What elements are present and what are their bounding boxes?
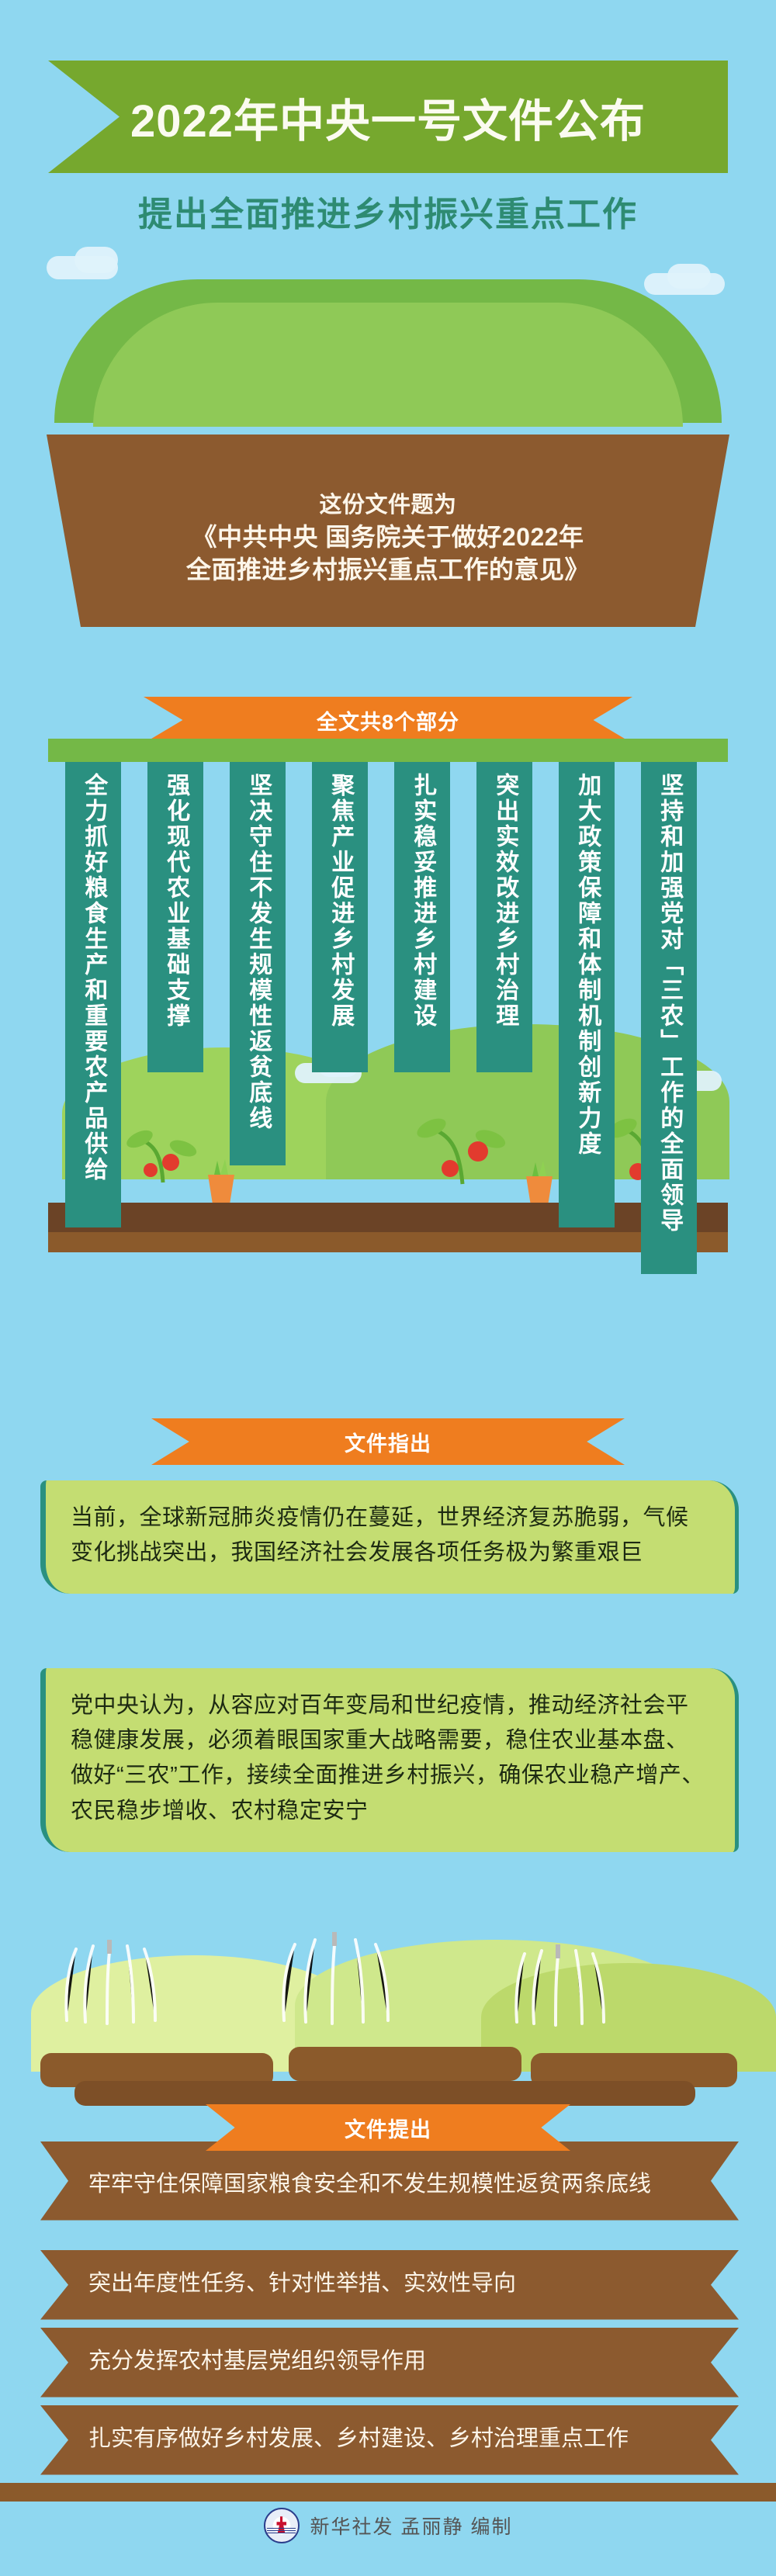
section-column-8[interactable]: 坚持和加强党对「三农」工作的全面领导 [641,762,697,1274]
points-out-paragraph-2: 党中央认为，从容应对百年变局和世纪疫情，推动经济社会平稳健康发展，必须着眼国家重… [40,1668,739,1852]
sprinkler-icon [512,1944,667,2045]
sprinkler-icon [279,1932,466,2041]
proposal-item-3[interactable]: 充分发挥农村基层党组织领导作用 [40,2328,739,2398]
columns-top-strip [48,739,728,762]
xinhua-logo-icon [264,2508,300,2543]
document-intro: 这份文件题为 [319,490,456,521]
proposal-item-2[interactable]: 突出年度性任务、针对性举措、实效性导向 [40,2250,739,2320]
top-field-illustration [0,248,776,458]
columns-soil-band-lower [48,1232,728,1252]
section-label-4: 聚焦产业促进乡村发展 [327,773,352,1029]
section-label-8: 坚持和加强党对「三农」工作的全面领导 [656,773,681,1234]
section-label-1: 全力抓好粮食生产和重要农产品供给 [81,773,106,1182]
section-label-3: 坚决守住不发生规模性返贫底线 [245,773,270,1131]
page-title: 2022年中央一号文件公布 [130,85,646,150]
sprinkler-icon [62,1940,233,2041]
section-column-7[interactable]: 加大政策保障和体制机制创新力度 [559,762,615,1227]
section-label-2: 强化现代农业基础支撑 [163,773,188,1029]
section-column-3[interactable]: 坚决守住不发生规模性返贫底线 [230,762,286,1165]
proposal-item-1[interactable]: 牢牢守住保障国家粮食安全和不发生规模性返贫两条底线 [40,2141,739,2221]
document-title-line2: 全面推进乡村振兴重点工作的意见》 [186,553,590,587]
points-out-banner: 文件指出 [151,1418,625,1465]
section-column-6[interactable]: 突出实效改进乡村治理 [476,762,532,1072]
proposals-banner: 文件提出 [206,2104,570,2151]
document-title-banner: 这份文件题为 《中共中央 国务院关于做好2022年 全面推进乡村振兴重点工作的意… [47,435,729,627]
section-column-5[interactable]: 扎实稳妥推进乡村建设 [394,762,450,1072]
sections-count-banner: 全文共8个部分 [144,697,632,743]
footer-soil-band [0,2483,776,2502]
infographic-page: 2022年中央一号文件公布 提出全面推进乡村振兴重点工作 [0,0,776,2576]
document-title-line1: 《中共中央 国务院关于做好2022年 [192,521,584,554]
tomato-plant-icon [404,1102,520,1187]
footer: 新华社发 孟丽静 编制 [0,2508,776,2543]
page-subtitle: 提出全面推进乡村振兴重点工作 [0,186,776,236]
footer-credit: 新华社发 孟丽静 编制 [310,2512,513,2540]
section-label-6: 突出实效改进乡村治理 [492,773,517,1029]
proposal-item-4[interactable]: 扎实有序做好乡村发展、乡村建设、乡村治理重点工作 [40,2405,739,2475]
section-column-4[interactable]: 聚焦产业促进乡村发展 [312,762,368,1072]
section-label-7: 加大政策保障和体制机制创新力度 [574,773,599,1157]
points-out-paragraph-1: 当前，全球新冠肺炎疫情仍在蔓延，世界经济复苏脆弱，气候变化挑战突出，我国经济社会… [40,1480,739,1594]
section-label-5: 扎实稳妥推进乡村建设 [410,773,435,1029]
section-column-2[interactable]: 强化现代农业基础支撑 [147,762,203,1072]
header-ribbon-text-wrap: 2022年中央一号文件公布 [48,61,728,173]
section-column-1[interactable]: 全力抓好粮食生产和重要农产品供给 [65,762,121,1227]
